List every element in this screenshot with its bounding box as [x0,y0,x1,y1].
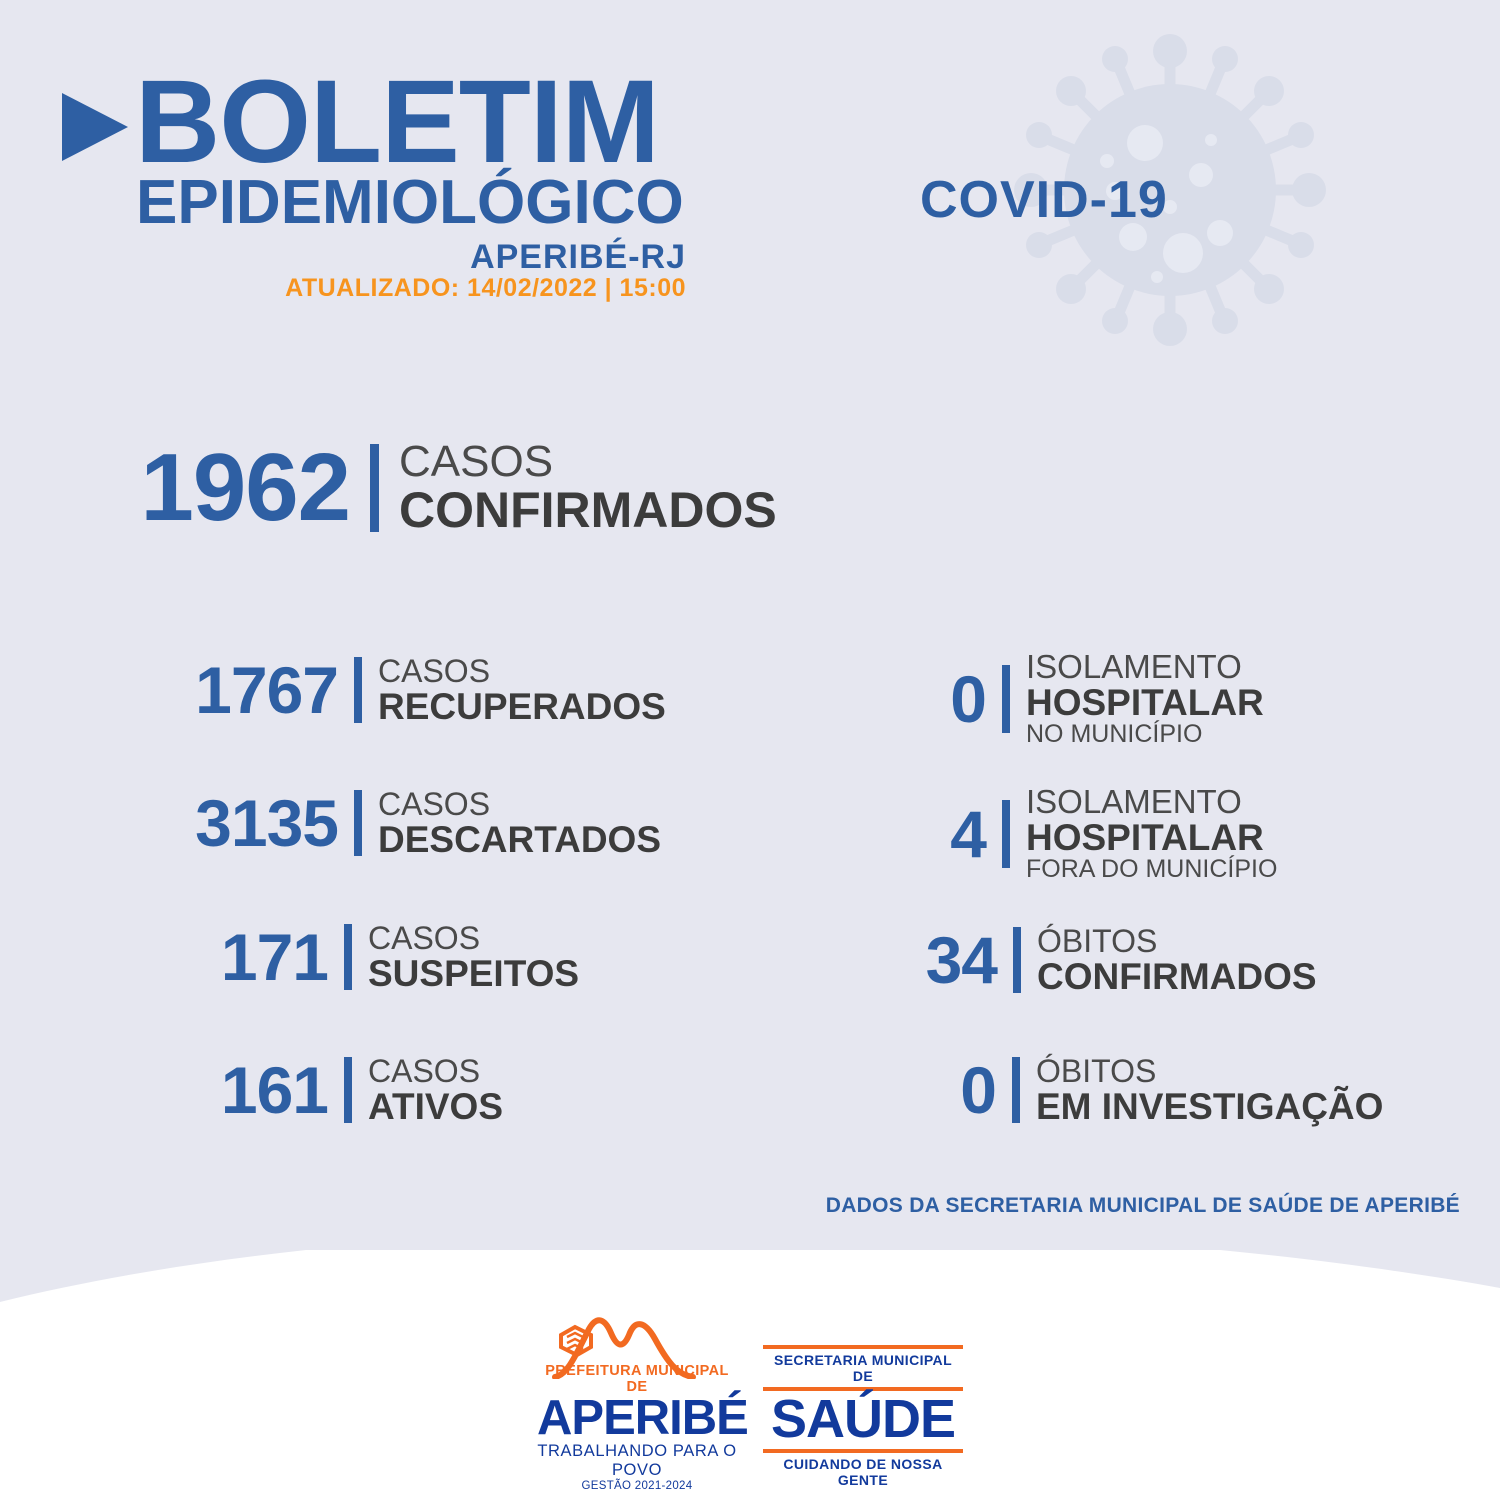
stat-divider [1013,927,1021,993]
logo-saude-rule-top [763,1345,963,1349]
stat-value: 34 [905,927,997,993]
stat-label-top: ISOLAMENTO [1026,650,1264,684]
logo-saude-rule-bottom [763,1449,963,1453]
covid-label: COVID-19 [920,170,1168,230]
stat-label-main: HOSPITALAR [1026,684,1264,722]
stat-label-main: SUSPEITOS [368,955,579,993]
stat-label-main: CONFIRMADOS [1037,958,1317,996]
logo-saude-name: SAÚDE [763,1394,963,1446]
stat-divider [354,657,362,723]
play-triangle-icon [62,93,128,161]
stat-value: 4 [930,801,986,867]
stat-discarded-cases: 3135 CASOS DESCARTADOS [150,788,661,858]
stat-value: 0 [930,666,986,732]
logo-aperibe-slogan: TRABALHANDO PARA O POVO [537,1442,737,1480]
stat-label-top: ÓBITOS [1037,925,1317,958]
stat-deaths-under-investigation: 0 ÓBITOS EM INVESTIGAÇÃO [940,1055,1383,1125]
logo-aperibe-name: APERIBÉ [537,1395,737,1442]
stat-suspected-cases: 171 CASOS SUSPEITOS [190,922,579,992]
stat-label-top: CASOS [399,440,777,485]
stat-label-main: EM INVESTIGAÇÃO [1036,1088,1383,1126]
source-note: DADOS DA SECRETARIA MUNICIPAL DE SAÚDE D… [0,1194,1460,1218]
stat-hospital-isolation-out-of-city: 4 ISOLAMENTO HOSPITALAR FORA DO MUNICÍPI… [930,785,1277,883]
stat-value: 171 [190,924,328,990]
stat-hospital-isolation-in-city: 0 ISOLAMENTO HOSPITALAR NO MUNICÍPIO [930,650,1264,748]
logo-saude: SECRETARIA MUNICIPAL DE SAÚDE CUIDANDO D… [763,1342,963,1492]
stat-label-top: ÓBITOS [1036,1055,1383,1088]
stat-divider [354,790,362,856]
stat-label-top: ISOLAMENTO [1026,785,1277,819]
stat-confirmed-cases: 1962 CASOS CONFIRMADOS [118,440,777,536]
stat-label-main: DESCARTADOS [378,821,661,859]
stat-label-main: HOSPITALAR [1026,819,1277,857]
stat-label-top: CASOS [378,655,666,688]
stat-confirmed-deaths: 34 ÓBITOS CONFIRMADOS [905,925,1317,995]
stat-recovered-cases: 1767 CASOS RECUPERADOS [160,655,666,725]
stat-value: 161 [190,1057,328,1123]
stat-divider [344,1057,352,1123]
stat-label-top: CASOS [378,788,661,821]
stat-divider [370,444,379,532]
stat-divider [1002,665,1010,733]
updated-timestamp: ATUALIZADO: 14/02/2022 | 15:00 [0,274,686,303]
logo-saude-line1: SECRETARIA MUNICIPAL DE [763,1352,963,1384]
stat-label-main: CONFIRMADOS [399,485,777,536]
stat-divider [1002,800,1010,868]
stat-value: 0 [940,1057,996,1123]
stat-label-main: ATIVOS [368,1088,503,1126]
stat-label-sub: FORA DO MUNICÍPIO [1026,856,1277,882]
stat-value: 1767 [160,657,338,723]
bulletin-page: BOLETIM EPIDEMIOLÓGICO APERIBÉ-RJ ATUALI… [0,0,1500,1500]
logo-saude-slogan: CUIDANDO DE NOSSA GENTE [763,1456,963,1488]
stat-label-top: CASOS [368,922,579,955]
page-title: BOLETIM [135,68,659,177]
logo-aperibe-term: GESTÃO 2021-2024 [537,1480,737,1492]
stat-label-top: CASOS [368,1055,503,1088]
logo-aperibe: PREFEITURA MUNICIPAL DE APERIBÉ TRABALHA… [537,1313,737,1492]
page-subtitle: EPIDEMIOLÓGICO [136,172,684,234]
stat-value: 3135 [150,790,338,856]
stat-divider [344,924,352,990]
stat-label-sub: NO MUNICÍPIO [1026,721,1264,747]
city-label: APERIBÉ-RJ [0,238,686,277]
stat-value: 1962 [118,440,350,536]
stat-divider [1012,1057,1020,1123]
stat-label-main: RECUPERADOS [378,688,666,726]
stat-active-cases: 161 CASOS ATIVOS [190,1055,503,1125]
footer-logos: PREFEITURA MUNICIPAL DE APERIBÉ TRABALHA… [0,1313,1500,1492]
